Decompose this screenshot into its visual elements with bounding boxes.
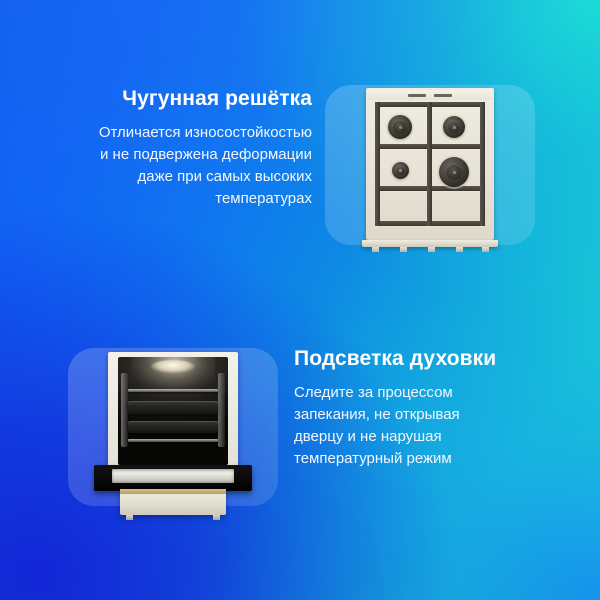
cooktop-vent [434,94,453,97]
oven-side-rail [121,373,128,447]
oven-door[interactable] [94,465,252,491]
gas-cooktop-photo [366,88,494,260]
grate-bar [375,102,380,226]
cooktop-body [366,88,494,240]
oven-lamp-icon [151,360,195,373]
burner-igniter [399,126,402,129]
body-line: запекания, не открывая [294,404,566,426]
body-line: Следите за процессом [294,382,566,404]
feature-text-cast-iron-grate: Чугунная решётка Отличается износостойко… [40,86,312,210]
burner-rear-left [388,115,412,139]
burner-rear-right [443,116,465,138]
oven-cavity [118,357,228,465]
burner-front-left [392,162,409,179]
oven-brass-trim [120,489,226,494]
body-line: и не подвержена деформации [40,144,312,166]
oven-baking-tray [128,421,218,433]
body-line: температурный режим [294,448,566,470]
feature-body-oven-light: Следите за процессом запекания, не откры… [294,382,566,470]
oven-shell [108,352,238,470]
feature-block-cast-iron-grate: Чугунная решётка Отличается износостойко… [0,0,600,300]
cooktop-foot [372,247,379,252]
cooktop-foot [400,247,407,252]
feature-heading-oven-light: Подсветка духовки [294,346,566,371]
body-line: дверцу и не нарушая [294,426,566,448]
oven-foot [126,515,133,520]
feature-heading-cast-iron-grate: Чугунная решётка [40,86,312,111]
burner-igniter [453,171,456,174]
feature-block-oven-light: Подсветка духовки Следите за процессом з… [0,300,600,600]
cooktop-front-lip [362,240,498,247]
burner-igniter [399,169,402,172]
grate-bar [427,102,432,226]
promo-banner: Чугунная решётка Отличается износостойко… [0,0,600,600]
oven-side-rail [218,373,225,447]
open-oven-photo [108,352,238,524]
cast-iron-grate [375,102,485,226]
feature-body-cast-iron-grate: Отличается износостойкостью и не подверж… [40,122,312,210]
oven-door-glass [112,469,234,483]
oven-wire-rack [128,439,218,442]
body-line: даже при самых высоких [40,166,312,188]
grate-bar [480,102,485,226]
oven-baking-tray [128,401,218,414]
cooktop-foot [428,247,435,252]
body-line: температурах [40,188,312,210]
cooktop-top-rail [368,90,492,100]
body-line: Отличается износостойкостью [40,122,312,144]
oven-wire-rack [128,389,218,392]
burner-front-right [439,157,469,187]
cooktop-foot [482,247,489,252]
oven-foot [213,515,220,520]
feature-text-oven-light: Подсветка духовки Следите за процессом з… [294,346,566,470]
cooktop-foot [456,247,463,252]
burner-igniter [453,126,456,129]
cooktop-vent [408,94,427,97]
